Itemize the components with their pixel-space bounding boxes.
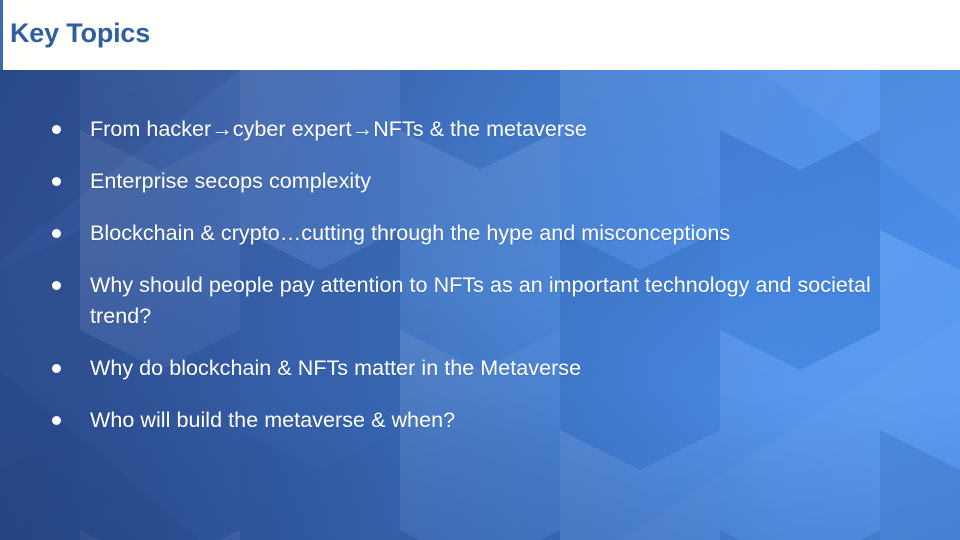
page-title: Key Topics — [10, 18, 150, 49]
list-item-label: Blockchain & crypto…cutting through the … — [90, 218, 934, 249]
slide-content: From hacker→cyber expert→NFTs & the meta… — [0, 70, 960, 540]
list-item: Blockchain & crypto…cutting through the … — [44, 218, 934, 249]
bullet-dot-icon — [52, 364, 61, 373]
title-band-left-accent — [0, 0, 3, 70]
list-item-label: Enterprise secops complexity — [90, 166, 934, 197]
list-item-label: Why should people pay attention to NFTs … — [90, 270, 934, 332]
list-item: Enterprise secops complexity — [44, 166, 934, 197]
bullet-dot-icon — [52, 281, 61, 290]
list-item-label: Who will build the metaverse & when? — [90, 405, 934, 436]
bullet-dot-icon — [52, 177, 61, 186]
list-item: Who will build the metaverse & when? — [44, 405, 934, 436]
bullet-dot-icon — [52, 125, 61, 134]
bullet-dot-icon — [52, 416, 61, 425]
list-item: Why should people pay attention to NFTs … — [44, 270, 934, 332]
list-item: Why do blockchain & NFTs matter in the M… — [44, 353, 934, 384]
key-topics-list: From hacker→cyber expert→NFTs & the meta… — [44, 114, 934, 436]
list-item: From hacker→cyber expert→NFTs & the meta… — [44, 114, 934, 145]
slide: Key Topics From hacker→cyber expert→NFTs… — [0, 0, 960, 540]
bullet-dot-icon — [52, 229, 61, 238]
list-item-label: Why do blockchain & NFTs matter in the M… — [90, 353, 934, 384]
list-item-label: From hacker→cyber expert→NFTs & the meta… — [90, 114, 934, 145]
